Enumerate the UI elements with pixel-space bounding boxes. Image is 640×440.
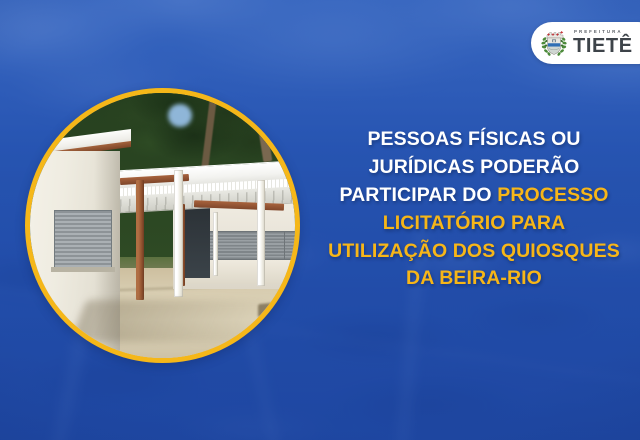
cast-shadow	[69, 300, 293, 342]
wooden-post	[136, 180, 144, 299]
sky-gap-icon	[168, 104, 192, 128]
headline-line-1: PESSOAS FÍSICAS OU	[318, 126, 630, 154]
white-column	[213, 212, 218, 276]
kiosk-photo	[30, 93, 295, 358]
headline-line-2: JURÍDICAS PODERÃO	[318, 154, 630, 182]
coat-of-arms-icon	[540, 28, 568, 58]
window-sill	[51, 267, 115, 273]
window-shutter	[284, 231, 295, 260]
headline-line-3: PARTICIPAR DO PROCESSO	[318, 182, 630, 210]
headline-line-5: UTILIZAÇÃO DOS QUIOSQUES	[318, 238, 630, 266]
logo-wordmark: PREFEITURA TIETÊ	[573, 30, 633, 55]
logo-name: TIETÊ	[573, 36, 633, 56]
prefeitura-logo[interactable]: PREFEITURA TIETÊ	[531, 22, 640, 64]
headline-line-3-white: PARTICIPAR DO	[339, 184, 497, 206]
headline: PESSOAS FÍSICAS OU JURÍDICAS PODERÃO PAR…	[318, 126, 630, 293]
headline-line-4: LICITATÓRIO PARA	[318, 210, 630, 238]
white-column	[174, 170, 183, 297]
window-shutter	[54, 210, 112, 268]
white-column	[257, 180, 265, 286]
kiosk-photo-ring	[25, 88, 300, 363]
doorway	[184, 204, 211, 278]
headline-line-6: DA BEIRA-RIO	[318, 265, 630, 293]
banner-canvas: PESSOAS FÍSICAS OU JURÍDICAS PODERÃO PAR…	[0, 0, 640, 440]
headline-line-3-accent: PROCESSO	[497, 184, 608, 206]
